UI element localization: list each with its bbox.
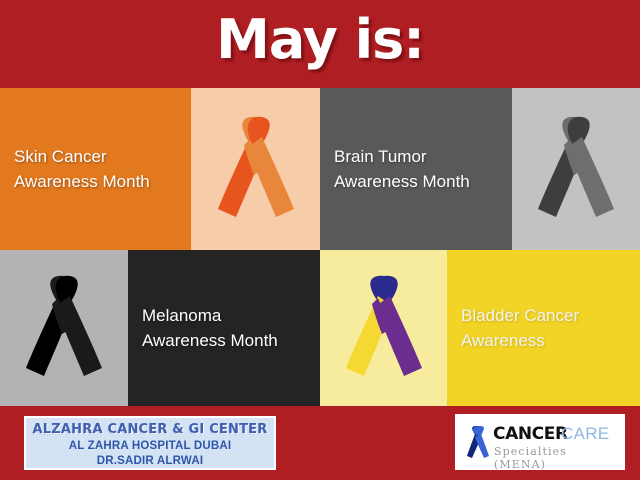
brain-tumor-line1: Brain Tumor bbox=[334, 144, 470, 169]
orange-awareness-ribbon bbox=[191, 88, 320, 250]
cancer-care-word-care: CARE bbox=[561, 424, 609, 444]
skin-cancer-label: Skin Cancer Awareness Month bbox=[14, 144, 150, 194]
brain-tumor-label: Brain Tumor Awareness Month bbox=[334, 144, 470, 194]
brain-tumor-line2: Awareness Month bbox=[334, 169, 470, 194]
orange-awareness-ribbon-icon bbox=[210, 113, 302, 225]
cell-brain-tumor-text: Brain Tumor Awareness Month bbox=[320, 88, 512, 250]
skin-cancer-line2: Awareness Month bbox=[14, 169, 150, 194]
bladder-tricolor-ribbon-icon bbox=[338, 272, 430, 384]
bladder-cancer-line1: Bladder Cancer bbox=[461, 303, 579, 328]
cell-melanoma-text: Melanoma Awareness Month bbox=[128, 250, 320, 406]
cell-bladder-cancer-ribbon bbox=[320, 250, 447, 406]
cell-skin-cancer-text: Skin Cancer Awareness Month bbox=[0, 88, 191, 250]
cancer-care-logo-box: CANCER CARE Specialties (MENA) bbox=[455, 414, 625, 470]
cell-brain-tumor-ribbon bbox=[512, 88, 640, 250]
melanoma-label: Melanoma Awareness Month bbox=[142, 303, 278, 353]
gray-awareness-ribbon-icon bbox=[530, 113, 622, 225]
page-title: May is: bbox=[0, 8, 640, 71]
cancer-care-logo: CANCER CARE Specialties (MENA) bbox=[465, 423, 617, 463]
awareness-grid: Skin Cancer Awareness Month Brain Tumor … bbox=[0, 88, 640, 406]
cancer-care-word-cancer: CANCER bbox=[493, 424, 568, 444]
poster-footer: ALZAHRA CANCER & GI CENTER AL ZAHRA HOSP… bbox=[0, 406, 640, 480]
cell-skin-cancer-ribbon bbox=[191, 88, 320, 250]
bladder-tricolor-ribbon bbox=[320, 250, 447, 406]
cell-bladder-cancer-text: Bladder Cancer Awareness bbox=[447, 250, 640, 406]
black-awareness-ribbon-icon bbox=[18, 272, 110, 384]
cell-melanoma-ribbon bbox=[0, 250, 128, 406]
clinic-name: ALZAHRA CANCER & GI CENTER bbox=[26, 422, 274, 437]
bladder-cancer-line2: Awareness bbox=[461, 328, 579, 353]
blue-awareness-ribbon-icon bbox=[465, 425, 491, 459]
clinic-doctor: DR.SADIR ALRWAI bbox=[26, 455, 274, 467]
melanoma-line2: Awareness Month bbox=[142, 328, 278, 353]
skin-cancer-line1: Skin Cancer bbox=[14, 144, 150, 169]
clinic-logo-box: ALZAHRA CANCER & GI CENTER AL ZAHRA HOSP… bbox=[24, 416, 276, 470]
black-awareness-ribbon bbox=[0, 250, 128, 406]
gray-awareness-ribbon bbox=[512, 88, 640, 250]
bladder-cancer-label: Bladder Cancer Awareness bbox=[461, 303, 579, 353]
melanoma-line1: Melanoma bbox=[142, 303, 278, 328]
clinic-hospital: AL ZAHRA HOSPITAL DUBAI bbox=[26, 440, 274, 452]
poster-header: May is: bbox=[0, 0, 640, 88]
awareness-poster: May is: Skin Cancer Awareness Month bbox=[0, 0, 640, 480]
cancer-care-subtitle: Specialties (MENA) bbox=[494, 445, 617, 471]
